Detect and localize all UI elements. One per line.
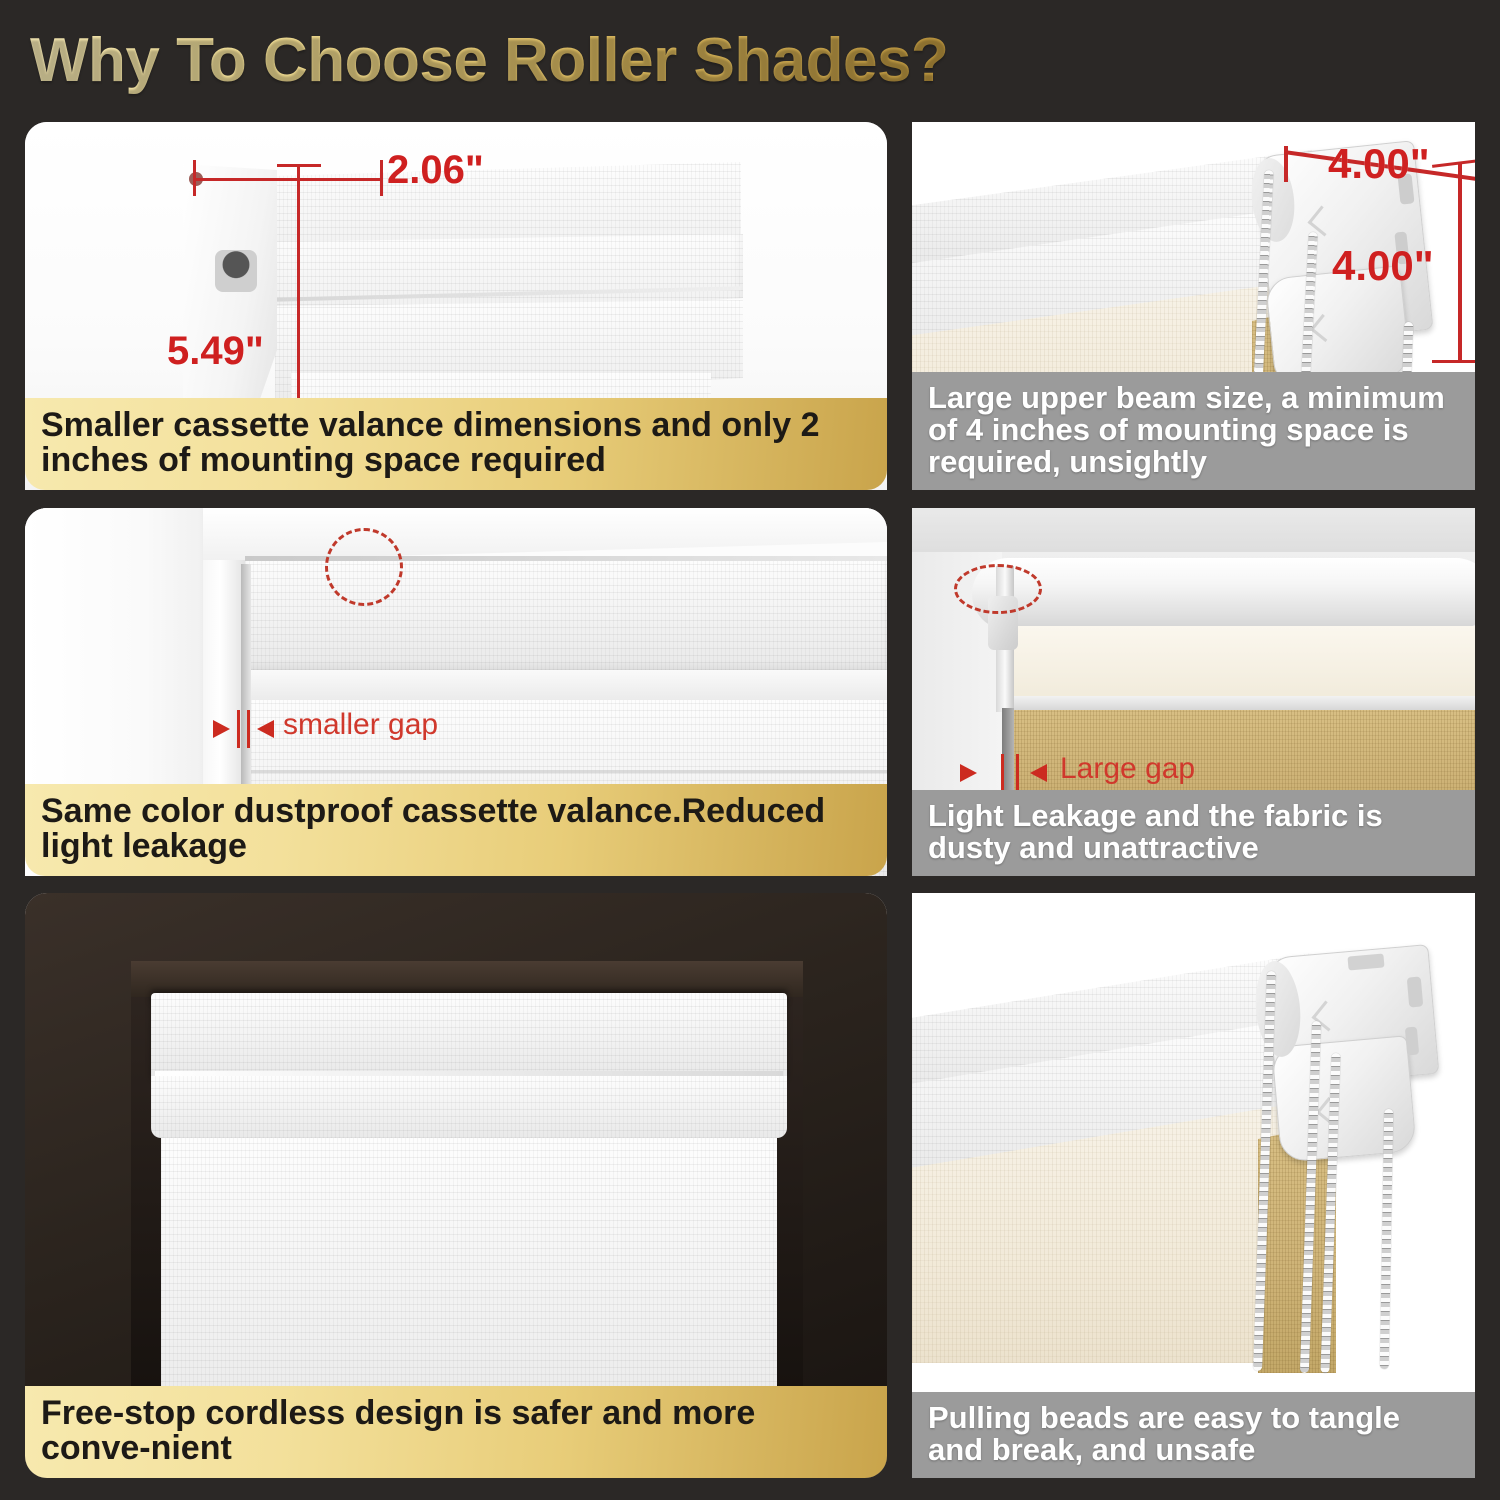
bracket-slot-right-upper — [1407, 976, 1424, 1007]
bracket-slot-right-lower — [1405, 1027, 1419, 1056]
panel-smaller-cassette-valance: 2.06" 5.49" Smaller cassette valance dim… — [25, 122, 887, 490]
fabric-bottom-rail — [1008, 696, 1475, 710]
panel-light-leakage: Large gap Light Leakage and the fabric i… — [912, 508, 1475, 876]
beam-width-dimension-label: 4.00" — [1328, 140, 1430, 188]
caption-light-leakage: Light Leakage and the fabric is dusty an… — [912, 790, 1475, 876]
light-leak-highlight-circle — [954, 564, 1042, 614]
panel-pulling-beads-unsafe: Pulling beads are easy to tangle and bre… — [912, 893, 1475, 1478]
gap-tick-2 — [247, 710, 250, 748]
beige-fabric-strip — [1008, 626, 1475, 700]
panel-large-upper-beam: 4.00" 4.00" Large upper beam size, a min… — [912, 122, 1475, 490]
fabric-horizontal-band — [251, 770, 887, 773]
panel-free-stop-cordless: Free-stop cordless design is safer and m… — [25, 893, 887, 1478]
large-gap-label: Large gap — [1060, 752, 1195, 786]
width-dimension-label: 2.06" — [387, 148, 484, 193]
beam-height-tick-bottom — [1432, 360, 1475, 363]
large-gap-tick-1 — [1001, 754, 1004, 792]
valance-gap-highlight-circle — [325, 528, 403, 606]
beam-height-dimension-label: 4.00" — [1332, 242, 1434, 290]
width-dim-line — [193, 178, 383, 181]
beam-height-dim-line — [1458, 162, 1462, 362]
height-dimension-label: 5.49" — [167, 329, 264, 374]
gap-arrow-right — [257, 720, 274, 738]
page-title: Why To Choose Roller Shades? — [30, 18, 948, 104]
bead-bracket-lower — [1271, 1035, 1417, 1162]
caption-large-upper-beam: Large upper beam size, a minimum of 4 in… — [912, 372, 1475, 490]
large-gap-arrow-right — [1030, 764, 1047, 782]
gap-tick-1 — [237, 710, 240, 748]
ceiling-shadow-band — [912, 508, 1475, 552]
panel-dustproof-cassette-valance: smaller gap Same color dustproof cassett… — [25, 508, 887, 876]
cassette-valance — [151, 993, 787, 1077]
valance-lower-lip — [245, 670, 887, 700]
caption-dustproof-cassette-valance: Same color dustproof cassette valance.Re… — [25, 784, 887, 876]
caption-pulling-beads-unsafe: Pulling beads are easy to tangle and bre… — [912, 1392, 1475, 1478]
large-gap-tick-2 — [1016, 754, 1019, 792]
large-gap-arrow-left — [960, 764, 977, 782]
product-photo-bead-chains — [912, 893, 1475, 1478]
beam-width-tick-left — [1284, 146, 1288, 182]
beam-height-tick-top — [1432, 159, 1475, 168]
window-frame-header — [203, 508, 887, 560]
end-cap-release-button — [215, 250, 257, 292]
caption-smaller-cassette-valance: Smaller cassette valance dimensions and … — [25, 398, 887, 490]
roller-tube — [972, 558, 1475, 630]
gap-arrow-left — [213, 720, 230, 738]
smaller-gap-label: smaller gap — [283, 708, 438, 742]
caption-free-stop-cordless: Free-stop cordless design is safer and m… — [25, 1386, 887, 1478]
width-dim-tick-left — [193, 160, 196, 196]
width-dim-tick-right — [380, 160, 383, 196]
height-dim-tick-top — [277, 164, 321, 167]
valance-roll-front — [151, 1076, 787, 1138]
infographic-page: Why To Choose Roller Shades? 2.06" 5.49 — [0, 0, 1500, 1500]
